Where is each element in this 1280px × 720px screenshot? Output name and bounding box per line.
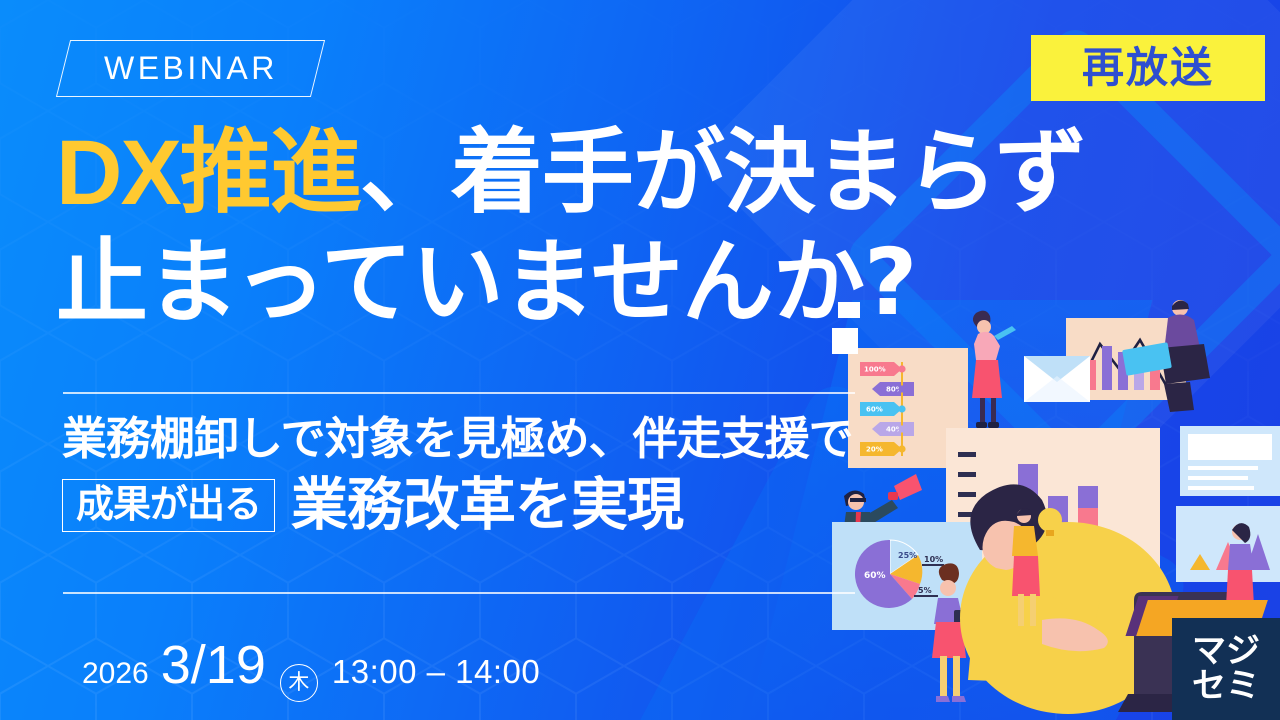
divider-top: [63, 392, 855, 394]
svg-text:10%: 10%: [924, 555, 943, 564]
schedule-time: 13:00 – 14:00: [332, 653, 540, 691]
schedule-month-day: 3/19: [161, 634, 266, 696]
majisemi-logo[interactable]: マジ セミ: [1172, 618, 1280, 720]
divider-bottom: [63, 592, 855, 594]
rebroadcast-badge-label: 再放送: [1082, 47, 1214, 89]
schedule-row: 2026 3/19 木 13:00 – 14:00: [82, 634, 540, 696]
svg-text:100%: 100%: [864, 366, 886, 374]
logo-accent-purple: [1126, 596, 1179, 636]
schedule-year: 2026: [82, 657, 149, 691]
subtitle-line-2: 成果が出る 業務改革を実現: [62, 477, 882, 534]
logo-line-1: マジ: [1192, 634, 1260, 669]
svg-text:40%: 40%: [886, 426, 903, 434]
headline: DX推進、着手が決まらず 止まっていませんか?: [56, 118, 1196, 339]
headline-line-2: 止まっていませんか?: [56, 228, 1196, 338]
subtitle-line-1: 業務棚卸しで対象を見極め、伴走支援で: [62, 412, 882, 465]
headline-highlight: DX推進: [56, 122, 360, 224]
headline-line-1: DX推進、着手が決まらず: [56, 118, 1196, 228]
webinar-badge: WEBINAR: [56, 40, 325, 97]
headline-line-1-rest: 、着手が決まらず: [360, 119, 1086, 226]
outcome-box: 成果が出る: [62, 479, 275, 532]
webinar-banner: 100% 80% 60% 40% 20%: [0, 0, 1280, 720]
hexagon-pattern: [0, 0, 1280, 720]
rebroadcast-badge: 再放送: [1031, 35, 1265, 101]
svg-text:25%: 25%: [898, 551, 917, 560]
schedule-weekday-badge: 木: [280, 664, 318, 702]
schedule-weekday-label: 木: [288, 672, 309, 693]
subtitle-block: 業務棚卸しで対象を見極め、伴走支援で 成果が出る 業務改革を実現: [62, 412, 882, 534]
svg-text:80%: 80%: [886, 386, 903, 394]
svg-text:5%: 5%: [918, 586, 932, 595]
webinar-badge-label: WEBINAR: [104, 50, 278, 87]
outcome-box-label: 成果が出る: [76, 485, 261, 523]
subtitle-emphasis: 業務改革を実現: [291, 477, 683, 534]
logo-line-2: セミ: [1192, 669, 1260, 704]
svg-text:60%: 60%: [864, 571, 886, 581]
